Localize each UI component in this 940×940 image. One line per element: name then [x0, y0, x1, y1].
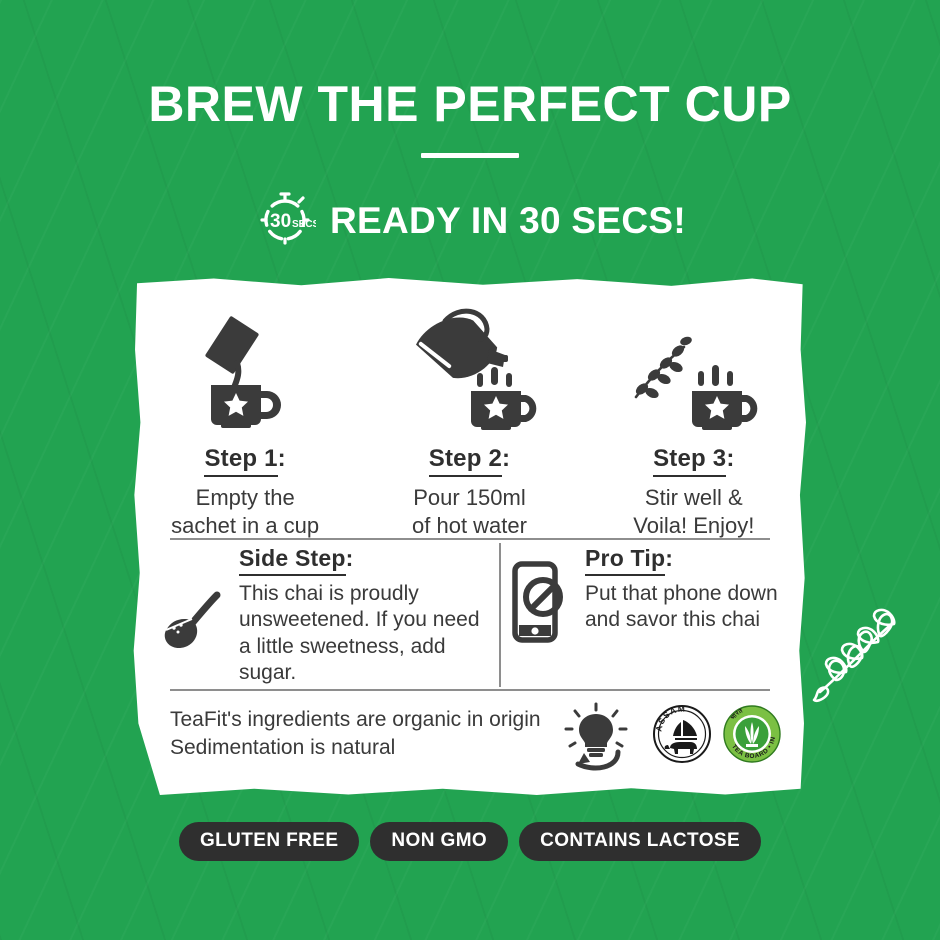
- ready-in-row: 30 SECS READY IN 30 SECS!: [0, 188, 940, 255]
- stopwatch-number: 30: [270, 211, 291, 232]
- side-step-colon: :: [346, 545, 354, 571]
- pill-gluten-free[interactable]: GLUTEN FREE: [179, 822, 359, 861]
- pro-tip-block: Pro Tip: Put that phone down and savor t…: [511, 545, 801, 648]
- step-1: Step 1: Empty the sachet in a cup: [133, 303, 357, 539]
- title-underline-rule: [421, 153, 519, 158]
- side-step-block: Side Step: This chai is proudly unsweete…: [155, 545, 495, 687]
- pill-non-gmo[interactable]: NON GMO: [370, 822, 508, 861]
- step-2-line2: of hot water: [412, 512, 527, 540]
- step-2: Step 2: Pour 150ml of hot water: [357, 303, 581, 539]
- stopwatch-icon: 30 SECS: [254, 188, 316, 255]
- step-3: Step 3: Stir well & Voila! Enjoy!: [582, 303, 806, 539]
- phone-no-symbol-icon: [511, 545, 573, 648]
- step-1-description: Empty the sachet in a cup: [171, 484, 319, 539]
- pro-tip-colon: :: [665, 545, 673, 571]
- certification-badges: ASSAM: [652, 702, 782, 769]
- pro-tip-heading: Pro Tip:: [585, 545, 801, 572]
- kettle-pouring-into-mug-icon: [401, 303, 537, 431]
- step-2-label: Step 2: [429, 445, 502, 477]
- step-1-label: Step 1: [204, 445, 277, 477]
- stopwatch-unit: SECS: [292, 219, 316, 230]
- step-1-line1: Empty the: [171, 484, 319, 512]
- step-3-label: Step 3: [653, 445, 726, 477]
- steps-row: Step 1: Empty the sachet in a cup: [133, 303, 806, 539]
- claims-pill-row: GLUTEN FREE NON GMO CONTAINS LACTOSE: [0, 822, 940, 861]
- sachet-pouring-into-mug-icon: [185, 303, 305, 431]
- step-3-line2: Voila! Enjoy!: [633, 512, 754, 540]
- leaf-sprig-decoration: [806, 596, 916, 716]
- pro-tip-label: Pro Tip: [585, 545, 665, 576]
- step-3-description: Stir well & Voila! Enjoy!: [633, 484, 754, 539]
- step-3-title: Step 3:: [653, 445, 734, 473]
- header: BREW THE PERFECT CUP 30 SECS READY I: [0, 0, 940, 255]
- side-step-label: Side Step: [239, 545, 346, 576]
- step-3-colon: :: [726, 445, 734, 472]
- page-title: BREW THE PERFECT CUP: [0, 78, 940, 131]
- organic-note-line2: Sedimentation is natural: [170, 734, 560, 762]
- step-2-line1: Pour 150ml: [412, 484, 527, 512]
- lightbulb-with-arrow: [560, 702, 652, 779]
- step-1-line2: sachet in a cup: [171, 512, 319, 540]
- step-2-title: Step 2:: [429, 445, 510, 473]
- pill-contains-lactose[interactable]: CONTAINS LACTOSE: [519, 822, 761, 861]
- tips-row: Side Step: This chai is proudly unsweete…: [133, 545, 806, 687]
- ready-text: READY IN 30 SECS!: [330, 200, 686, 242]
- lightbulb-icon: [566, 704, 626, 757]
- instructions-card: Step 1: Empty the sachet in a cup: [133, 277, 806, 796]
- herb-sprig-with-mug-icon: [626, 303, 762, 431]
- tea-board-india-badge: TEA BOARD • INDIA भारत: [722, 704, 782, 769]
- step-2-description: Pour 150ml of hot water: [412, 484, 527, 539]
- bottom-note-row: TeaFit's ingredients are organic in orig…: [170, 702, 770, 779]
- divider-top: [170, 538, 770, 540]
- divider-bottom: [170, 689, 770, 691]
- side-step-heading: Side Step:: [239, 545, 495, 572]
- step-3-line1: Stir well &: [633, 484, 754, 512]
- organic-note: TeaFit's ingredients are organic in orig…: [170, 702, 560, 761]
- step-1-title: Step 1:: [204, 445, 285, 473]
- step-1-colon: :: [278, 445, 286, 472]
- spoon-with-sugar-icon: [155, 545, 233, 687]
- side-step-body: This chai is proudly unsweetened. If you…: [239, 581, 495, 687]
- organic-note-line1: TeaFit's ingredients are organic in orig…: [170, 706, 560, 734]
- step-2-colon: :: [502, 445, 510, 472]
- pro-tip-body: Put that phone down and savor this chai: [585, 581, 801, 634]
- assam-tea-badge: ASSAM: [652, 704, 712, 769]
